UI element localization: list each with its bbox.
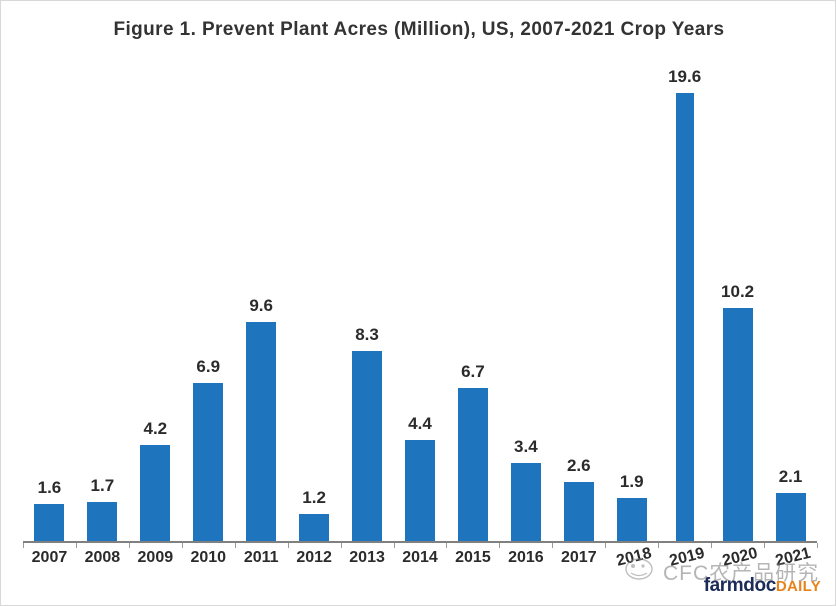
- x-axis-tick: [129, 543, 130, 548]
- x-axis-label-2017: 2017: [561, 549, 597, 567]
- plot-area: 1.61.74.26.99.61.28.34.46.73.42.61.919.6…: [1, 61, 836, 541]
- bar-rect: [776, 493, 806, 541]
- x-axis-tick: [658, 543, 659, 548]
- bar-value-label: 4.4: [408, 414, 432, 434]
- brand-name: farmdoc: [704, 575, 776, 596]
- bar-value-label: 2.1: [779, 467, 803, 487]
- x-axis-tick: [552, 543, 553, 548]
- bar-value-label: 8.3: [355, 325, 379, 345]
- x-axis-label-2021: 2021: [773, 545, 812, 571]
- brand-suffix: DAILY: [776, 578, 821, 595]
- bar-rect: [617, 498, 647, 541]
- bar-rect: [352, 351, 382, 541]
- bar-2018: 1.9: [605, 61, 658, 541]
- bar-value-label: 1.2: [302, 488, 326, 508]
- x-axis-tick: [76, 543, 77, 548]
- x-axis-tick: [394, 543, 395, 548]
- x-axis-label-2018: 2018: [614, 545, 653, 571]
- bar-2011: 9.6: [235, 61, 288, 541]
- bar-value-label: 6.9: [196, 357, 220, 377]
- x-axis-label-2012: 2012: [296, 549, 332, 567]
- bar-value-label: 9.6: [249, 296, 273, 316]
- x-axis-tick: [235, 543, 236, 548]
- bar-rect: [299, 514, 329, 541]
- x-axis-label-2020: 2020: [720, 545, 759, 571]
- bar-2014: 4.4: [394, 61, 447, 541]
- bar-series: 1.61.74.26.99.61.28.34.46.73.42.61.919.6…: [1, 61, 836, 541]
- bar-2019: 19.6: [658, 61, 711, 541]
- bar-rect: [405, 440, 435, 541]
- x-axis-tick: [817, 543, 818, 548]
- x-axis-tick: [605, 543, 606, 548]
- bar-rect: [140, 445, 170, 541]
- bar-value-label: 1.7: [91, 476, 115, 496]
- bar-rect: [34, 504, 64, 541]
- bar-2009: 4.2: [129, 61, 182, 541]
- bar-2012: 1.2: [288, 61, 341, 541]
- x-axis-label-2019: 2019: [667, 545, 706, 571]
- bar-value-label: 4.2: [143, 419, 167, 439]
- x-axis-line: [23, 541, 817, 543]
- x-axis-label-2010: 2010: [190, 549, 226, 567]
- bar-value-label: 1.6: [38, 478, 62, 498]
- x-axis-label-2016: 2016: [508, 549, 544, 567]
- bar-2021: 2.1: [764, 61, 817, 541]
- bar-value-label: 6.7: [461, 362, 485, 382]
- x-axis-label-2008: 2008: [85, 549, 121, 567]
- x-axis-tick: [499, 543, 500, 548]
- x-axis-label-2009: 2009: [138, 549, 174, 567]
- bar-2016: 3.4: [499, 61, 552, 541]
- bar-value-label: 2.6: [567, 456, 591, 476]
- bar-rect: [511, 463, 541, 541]
- farmdoc-daily-logo: farmdocDAILY: [704, 575, 821, 597]
- bar-2008: 1.7: [76, 61, 129, 541]
- bar-value-label: 1.9: [620, 472, 644, 492]
- x-axis-label-2015: 2015: [455, 549, 491, 567]
- bar-value-label: 3.4: [514, 437, 538, 457]
- x-axis-tick: [23, 543, 24, 548]
- bar-2015: 6.7: [446, 61, 499, 541]
- bar-rect: [458, 388, 488, 541]
- chart-title: Figure 1. Prevent Plant Acres (Million),…: [1, 19, 836, 41]
- bar-rect: [564, 482, 594, 541]
- x-axis-tick: [341, 543, 342, 548]
- x-axis-label-2013: 2013: [349, 549, 385, 567]
- bar-2020: 10.2: [711, 61, 764, 541]
- bar-value-label: 10.2: [721, 282, 754, 302]
- x-axis-label-2007: 2007: [32, 549, 68, 567]
- x-axis-tick: [446, 543, 447, 548]
- figure-container: Figure 1. Prevent Plant Acres (Million),…: [0, 0, 836, 606]
- x-axis-tick: [182, 543, 183, 548]
- bar-2010: 6.9: [182, 61, 235, 541]
- bar-2013: 8.3: [341, 61, 394, 541]
- x-axis-label-2014: 2014: [402, 549, 438, 567]
- bar-rect: [87, 502, 117, 541]
- x-axis-tick: [711, 543, 712, 548]
- x-axis-tick: [764, 543, 765, 548]
- bar-value-label: 19.6: [668, 67, 701, 87]
- bar-rect: [193, 383, 223, 541]
- bar-rect: [723, 308, 753, 541]
- bar-2017: 2.6: [552, 61, 605, 541]
- x-axis-tick: [288, 543, 289, 548]
- bar-2007: 1.6: [23, 61, 76, 541]
- x-axis-label-2011: 2011: [244, 549, 279, 567]
- bar-rect: [676, 93, 694, 541]
- bar-rect: [246, 322, 276, 541]
